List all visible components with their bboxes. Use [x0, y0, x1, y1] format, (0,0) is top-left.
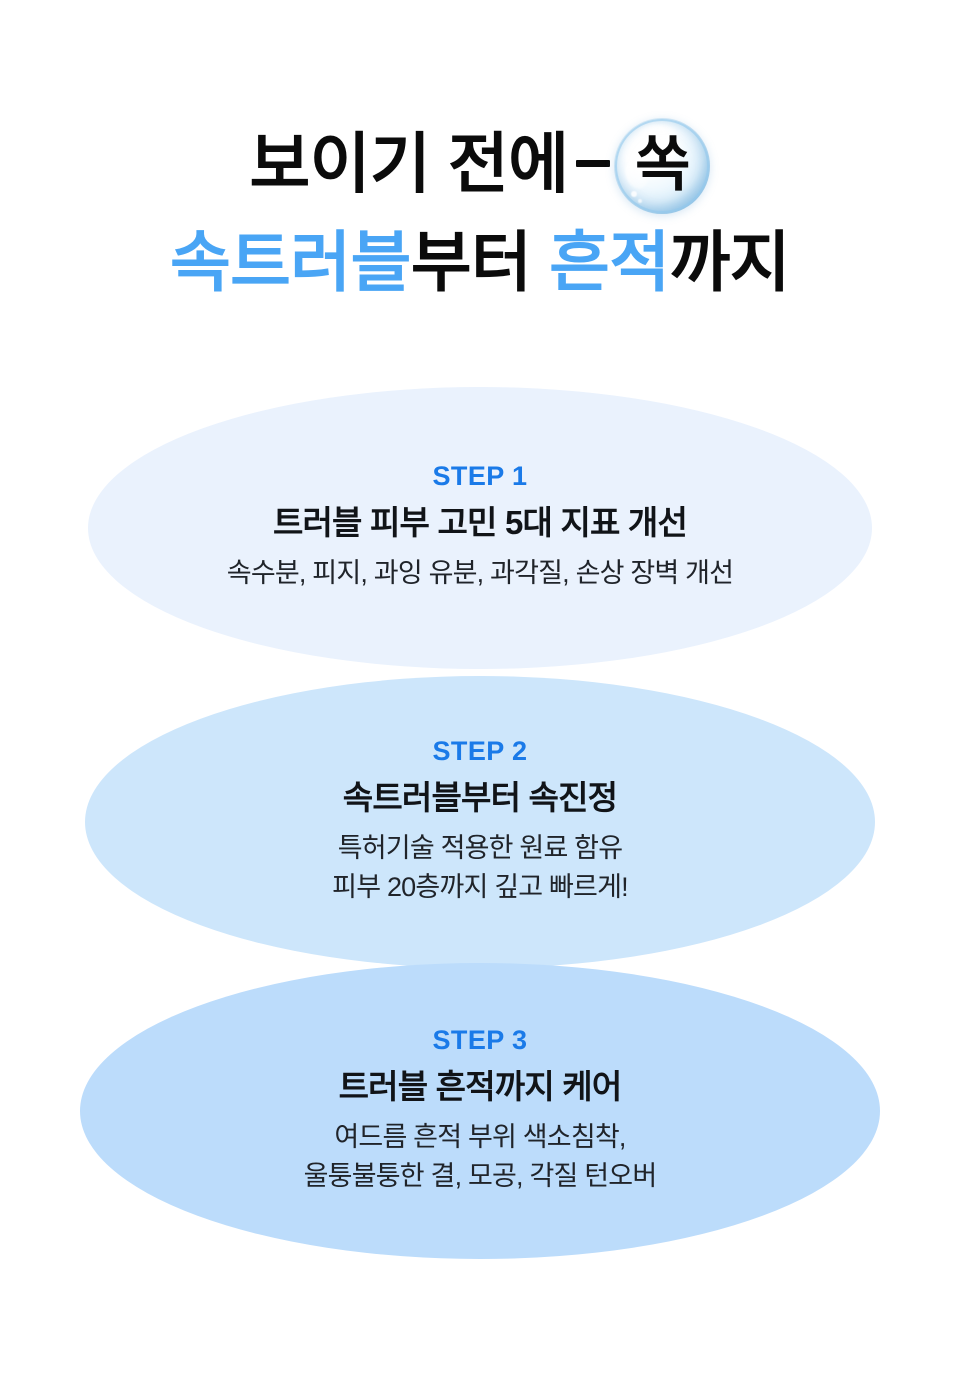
step-list: STEP 1 트러블 피부 고민 5대 지표 개선 속수분, 피지, 과잉 유분… — [0, 0, 960, 1389]
step-card-1: STEP 1 트러블 피부 고민 5대 지표 개선 속수분, 피지, 과잉 유분… — [88, 387, 872, 669]
step-description-2-line-2: 피부 20층까지 깊고 빠르게! — [332, 868, 628, 907]
step-description-3: 여드름 흔적 부위 색소침착, 울퉁불퉁한 결, 모공, 각질 턴오버 — [304, 1118, 657, 1196]
step-heading-2: 속트러블부터 속진정 — [343, 778, 617, 818]
step-label-3: STEP 3 — [433, 1027, 528, 1054]
step-card-2: STEP 2 속트러블부터 속진정 특허기술 적용한 원료 함유 피부 20층까… — [85, 676, 875, 968]
step-label-1: STEP 1 — [433, 463, 528, 490]
step-card-3: STEP 3 트러블 흔적까지 케어 여드름 흔적 부위 색소침착, 울퉁불퉁한… — [80, 963, 880, 1259]
step-description-1: 속수분, 피지, 과잉 유분, 과각질, 손상 장벽 개선 — [227, 554, 733, 593]
step-description-2: 특허기술 적용한 원료 함유 피부 20층까지 깊고 빠르게! — [332, 829, 628, 907]
step-description-3-line-2: 울퉁불퉁한 결, 모공, 각질 턴오버 — [304, 1157, 657, 1196]
step-label-2: STEP 2 — [433, 738, 528, 765]
step-description-2-line-1: 특허기술 적용한 원료 함유 — [332, 829, 628, 868]
step-description-3-line-1: 여드름 흔적 부위 색소침착, — [304, 1118, 657, 1157]
step-heading-1: 트러블 피부 고민 5대 지표 개선 — [273, 503, 687, 543]
step-heading-3: 트러블 흔적까지 케어 — [339, 1067, 622, 1107]
step-description-1-line-1: 속수분, 피지, 과잉 유분, 과각질, 손상 장벽 개선 — [227, 554, 733, 593]
